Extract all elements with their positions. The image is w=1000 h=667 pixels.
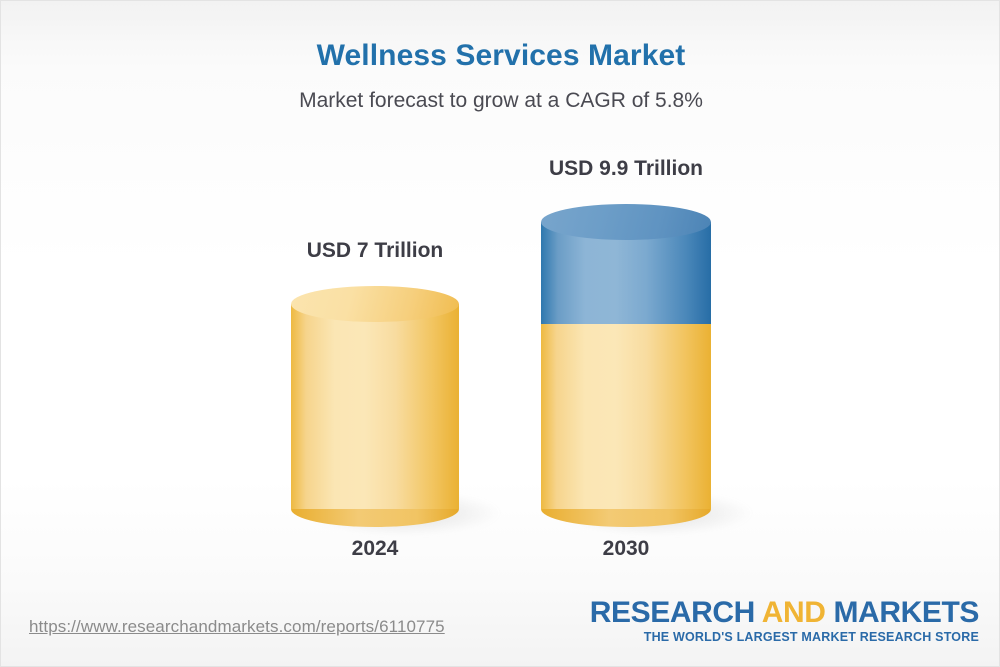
cylinder-segment-base-2024 <box>291 286 459 509</box>
brand-word-and: AND <box>762 596 826 629</box>
cylinder-top-ellipse-2030 <box>541 204 711 240</box>
bar-category-label-2030: 2030 <box>541 537 711 561</box>
brand-word-research: RESEARCH <box>590 596 755 629</box>
cylinder-2030[interactable] <box>541 204 711 509</box>
bar-group-2024: USD 7 Trillion 2024 <box>291 291 459 591</box>
chart-plot-area: USD 7 Trillion 2024 USD 9.9 Trillion <box>1 1 1000 591</box>
bar-value-label-2030: USD 9.9 Trillion <box>541 157 711 181</box>
brand-word-markets: MARKETS <box>833 596 979 629</box>
cylinder-top-ellipse-2024 <box>291 286 459 322</box>
chart-canvas: Wellness Services Market Market forecast… <box>0 0 1000 667</box>
research-and-markets-logo[interactable]: RESEARCH AND MARKETS THE WORLD'S LARGEST… <box>590 597 979 646</box>
cylinder-body-2024 <box>291 304 459 509</box>
cylinder-body-base-2030 <box>541 306 711 509</box>
bar-group-2030: USD 9.9 Trillion 2030 <box>541 209 711 591</box>
bar-value-label-2024: USD 7 Trillion <box>291 239 459 263</box>
brand-wordmark: RESEARCH AND MARKETS <box>590 597 979 629</box>
report-url-link[interactable]: https://www.researchandmarkets.com/repor… <box>29 617 445 637</box>
chart-footer: https://www.researchandmarkets.com/repor… <box>1 589 1000 666</box>
cylinder-2024[interactable] <box>291 286 459 509</box>
brand-tagline: THE WORLD'S LARGEST MARKET RESEARCH STOR… <box>590 629 979 647</box>
cylinder-segment-growth-2030 <box>541 204 711 324</box>
cylinder-segment-base-2030 <box>541 306 711 509</box>
bar-category-label-2024: 2024 <box>291 537 459 561</box>
